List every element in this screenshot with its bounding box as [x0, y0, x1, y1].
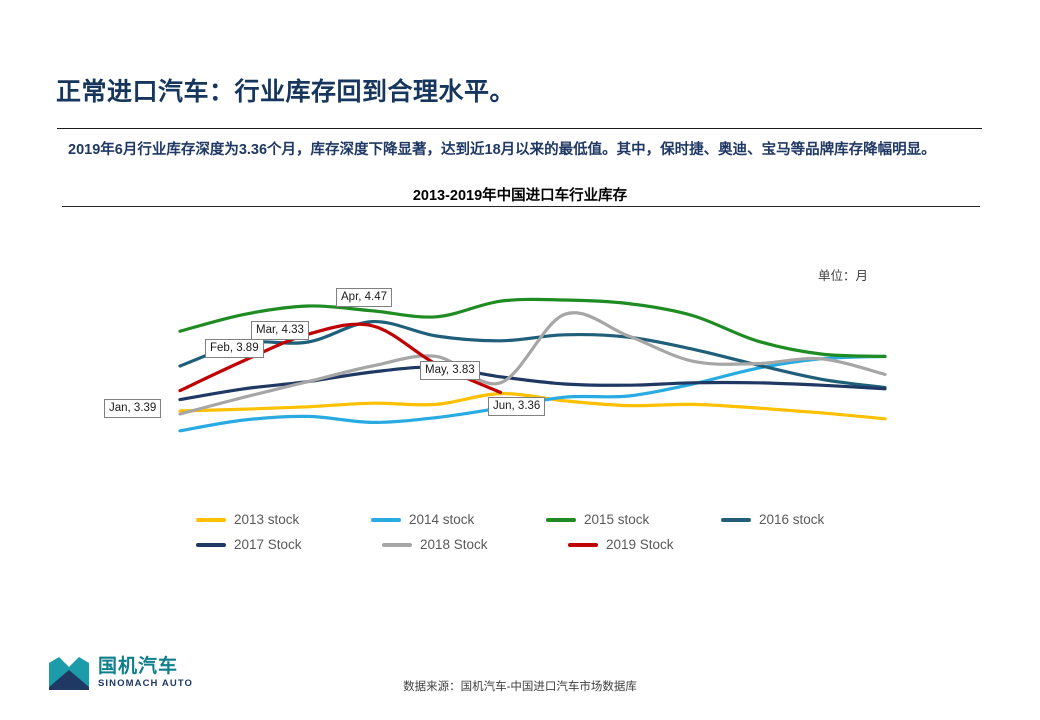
logo-cn-name: 国机汽车: [98, 657, 193, 677]
subtitle-text: 2019年6月行业库存深度为3.36个月，库存深度下降显著，达到近18月以来的最…: [68, 140, 990, 162]
legend-label: 2016 stock: [759, 512, 824, 527]
slide-root: 正常进口汽车：行业库存回到合理水平。 2019年6月行业库存深度为3.36个月，…: [0, 0, 1040, 720]
legend-item-2016-stock[interactable]: 2016 stock: [721, 512, 896, 527]
legend-label: 2018 Stock: [420, 537, 488, 552]
legend-item-2015-stock[interactable]: 2015 stock: [546, 512, 721, 527]
legend-row-2: 2017 Stock2018 Stock2019 Stock: [196, 537, 896, 552]
chart-title: 2013-2019年中国进口车行业库存: [0, 184, 1040, 205]
legend-item-2013-stock[interactable]: 2013 stock: [196, 512, 371, 527]
chart-annotation-apr: Apr, 4.47: [336, 288, 392, 307]
legend-label: 2014 stock: [409, 512, 474, 527]
legend-label: 2015 stock: [584, 512, 649, 527]
chart-annotation-may: May, 3.83: [420, 361, 480, 380]
legend-swatch-icon: [371, 518, 401, 522]
legend-swatch-icon: [721, 518, 751, 522]
legend-swatch-icon: [196, 543, 226, 547]
header-divider: [57, 128, 982, 129]
chart-annotation-mar: Mar, 4.33: [251, 321, 309, 340]
page-title: 正常进口汽车：行业库存回到合理水平。: [56, 72, 515, 108]
chart-title-divider: [62, 206, 980, 207]
legend-label: 2017 Stock: [234, 537, 302, 552]
chart-annotation-jun: Jun, 3.36: [488, 397, 545, 416]
legend-swatch-icon: [382, 543, 412, 547]
legend-label: 2013 stock: [234, 512, 299, 527]
line-chart: [0, 230, 1040, 480]
chart-annotation-feb: Feb, 3.89: [205, 339, 264, 358]
legend-item-2019-stock[interactable]: 2019 Stock: [568, 537, 754, 552]
legend-swatch-icon: [196, 518, 226, 522]
legend-item-2014-stock[interactable]: 2014 stock: [371, 512, 546, 527]
legend-item-2018-stock[interactable]: 2018 Stock: [382, 537, 568, 552]
legend-item-2017-stock[interactable]: 2017 Stock: [196, 537, 382, 552]
source-note: 数据来源：国机汽车-中国进口汽车市场数据库: [0, 678, 1040, 694]
chart-canvas: [0, 230, 1040, 480]
series-line-2014-stock: [180, 356, 885, 430]
legend-swatch-icon: [546, 518, 576, 522]
legend-swatch-icon: [568, 543, 598, 547]
legend-label: 2019 Stock: [606, 537, 674, 552]
chart-annotation-jan: Jan, 3.39: [104, 399, 161, 418]
legend-row-1: 2013 stock2014 stock2015 stock2016 stock: [196, 512, 896, 527]
chart-legend: 2013 stock2014 stock2015 stock2016 stock…: [196, 512, 896, 562]
